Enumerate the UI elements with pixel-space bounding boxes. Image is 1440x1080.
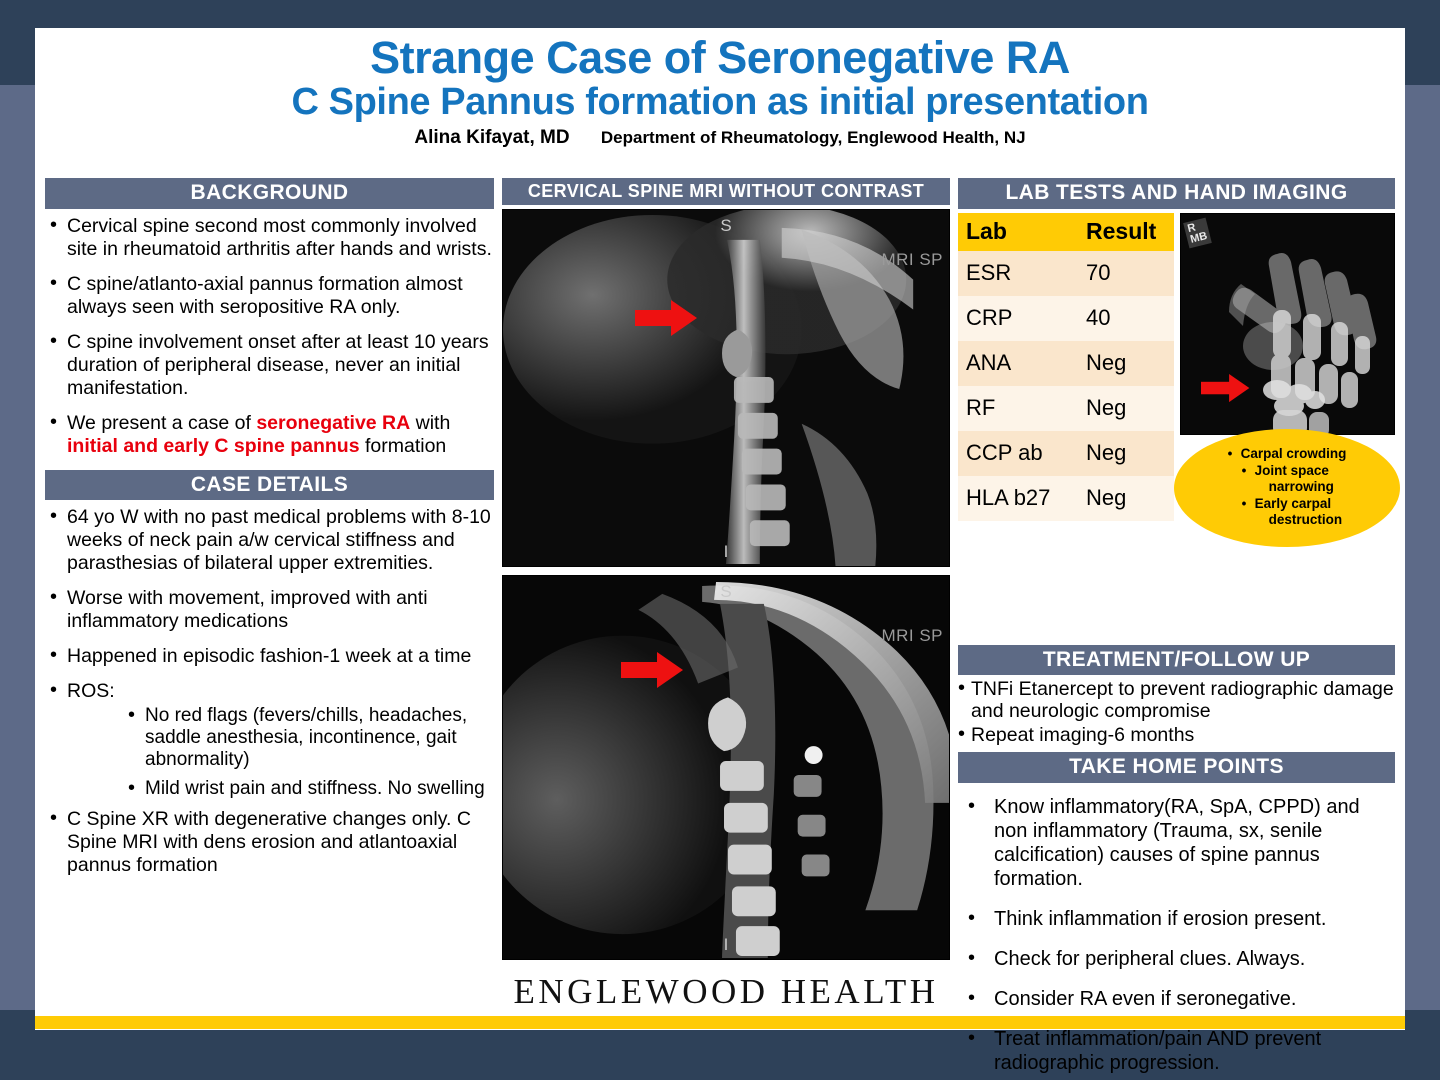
mri-image-sagittal-t2[interactable]: S I MRI SP <box>502 209 950 567</box>
englewood-health-logo: ENGLEWOOD HEALTH <box>502 972 950 1012</box>
table-row: HLA b27 Neg <box>958 476 1174 521</box>
mri-orientation-inferior: I <box>724 542 729 562</box>
frame-rail-left <box>0 85 35 1010</box>
section-header-case-details: CASE DETAILS <box>45 470 494 501</box>
arrow-head <box>657 652 683 688</box>
mri-orientation-inferior-2: I <box>724 935 729 955</box>
list-item: C Spine XR with degenerative changes onl… <box>45 808 494 877</box>
column-header-result: Result <box>1078 213 1174 251</box>
table-row: RF Neg <box>958 386 1174 431</box>
hand-imaging-wrapper: RMB Carpal crowding Joint space narrowin… <box>1180 213 1395 521</box>
poster-title-line-1: Strange Case of Seronegative RA <box>45 34 1395 83</box>
poster-authors: Alina Kifayat, MD Department of Rheumato… <box>45 127 1395 149</box>
cell-lab-result: Neg <box>1078 476 1174 521</box>
author-name: Alina Kifayat, MD <box>414 127 569 148</box>
cell-lab-name: ANA <box>958 341 1078 386</box>
poster-columns: BACKGROUND Cervical spine second most co… <box>35 178 1405 1030</box>
bullet-text-pre: We present a case of <box>67 412 256 434</box>
column-middle: CERVICAL SPINE MRI WITHOUT CONTRAST <box>498 178 954 1030</box>
arrow-head <box>671 300 697 336</box>
mri-orientation-superior-2: S <box>720 582 731 602</box>
arrow-head <box>1229 374 1249 402</box>
poster-title-block: Strange Case of Seronegative RA C Spine … <box>35 28 1405 149</box>
list-item: Mild wrist pain and stiffness. No swelli… <box>123 778 494 800</box>
bullet-text-post: formation <box>360 435 447 457</box>
hand-xray-image[interactable]: RMB <box>1180 213 1395 435</box>
list-item: Think inflammation if erosion present. <box>958 907 1395 931</box>
author-department: Department of Rheumatology, Englewood He… <box>601 128 1026 147</box>
column-right: LAB TESTS AND HAND IMAGING Lab Result ES… <box>954 178 1405 1030</box>
list-item: Consider RA even if seronegative. <box>958 987 1395 1011</box>
list-item-highlighted: We present a case of seronegative RA wit… <box>45 412 494 458</box>
cell-lab-name: HLA b27 <box>958 476 1078 521</box>
hand-xray-svg <box>1181 214 1395 435</box>
cell-lab-name: RF <box>958 386 1078 431</box>
mri-watermark-2: MRI SP <box>881 626 943 646</box>
list-item: C spine/atlanto-axial pannus formation a… <box>45 273 494 319</box>
list-item: Joint space <box>1242 463 1347 479</box>
list-item: Treat inflammation/pain AND prevent radi… <box>958 1027 1395 1075</box>
bullet-highlight-seronegative: seronegative RA <box>256 412 410 434</box>
hand-findings-callout: Carpal crowding Joint space narrowing Ea… <box>1174 429 1400 547</box>
section-header-mri: CERVICAL SPINE MRI WITHOUT CONTRAST <box>502 178 950 205</box>
poster-frame: Strange Case of Seronegative RA C Spine … <box>0 0 1440 1080</box>
list-item-continuation: destruction <box>1256 512 1347 528</box>
list-item: Cervical spine second most commonly invo… <box>45 215 494 261</box>
list-item: Repeat imaging-6 months <box>958 724 1395 746</box>
cell-lab-result: 70 <box>1078 251 1174 296</box>
list-item: No red flags (fevers/chills, headaches, … <box>123 705 494 772</box>
column-left: BACKGROUND Cervical spine second most co… <box>35 178 498 1030</box>
cell-lab-result: Neg <box>1078 386 1174 431</box>
treatment-bullet-list: TNFi Etanercept to prevent radiographic … <box>958 678 1395 746</box>
take-home-bullet-list: Know inflammatory(RA, SpA, CPPD) and non… <box>958 795 1395 1075</box>
list-item: Early carpal <box>1242 496 1347 512</box>
callout-bullet-list: Carpal crowding Joint space narrowing Ea… <box>1228 446 1347 528</box>
list-item-ros: ROS: <box>45 680 494 703</box>
list-item: Worse with movement, improved with anti … <box>45 587 494 633</box>
mri-orientation-superior: S <box>720 216 731 236</box>
table-row: ESR 70 <box>958 251 1174 296</box>
arrow-shaft <box>635 310 673 326</box>
cell-lab-result: 40 <box>1078 296 1174 341</box>
case-details-sub-bullet-list: No red flags (fevers/chills, headaches, … <box>45 705 494 800</box>
section-header-take-home: TAKE HOME POINTS <box>958 752 1395 783</box>
table-header-row: Lab Result <box>958 213 1174 251</box>
section-header-background: BACKGROUND <box>45 178 494 209</box>
bullet-highlight-pannus: initial and early C spine pannus <box>67 435 360 457</box>
cell-lab-result: Neg <box>1078 431 1174 476</box>
case-details-bullet-list: 64 yo W with no past medical problems wi… <box>45 506 494 703</box>
bottom-accent-bar <box>35 1016 1405 1029</box>
lab-and-imaging-area: Lab Result ESR 70 CRP 40 <box>958 213 1395 521</box>
list-item: Happened in episodic fashion-1 week at a… <box>45 645 494 668</box>
mri-watermark: MRI SP <box>881 250 943 270</box>
section-header-treatment: TREATMENT/FOLLOW UP <box>958 645 1395 676</box>
cell-lab-result: Neg <box>1078 341 1174 386</box>
list-item: Carpal crowding <box>1228 446 1347 462</box>
section-header-labs: LAB TESTS AND HAND IMAGING <box>958 178 1395 209</box>
list-item: TNFi Etanercept to prevent radiographic … <box>958 678 1395 723</box>
frame-rail-right <box>1405 85 1440 1010</box>
poster-title-line-2: C Spine Pannus formation as initial pres… <box>45 81 1395 124</box>
list-item: Check for peripheral clues. Always. <box>958 947 1395 971</box>
cell-lab-name: CCP ab <box>958 431 1078 476</box>
lab-results-table: Lab Result ESR 70 CRP 40 <box>958 213 1174 521</box>
mri-image-sagittal-t1[interactable]: S I MRI SP <box>502 575 950 960</box>
arrow-shaft <box>1201 381 1231 393</box>
cell-lab-name: CRP <box>958 296 1078 341</box>
arrow-shaft <box>621 662 659 678</box>
list-item-continuation: narrowing <box>1256 479 1347 495</box>
case-details-final-bullet: C Spine XR with degenerative changes onl… <box>45 808 494 877</box>
column-header-lab: Lab <box>958 213 1078 251</box>
bullet-text-mid: with <box>410 412 450 434</box>
list-item: Know inflammatory(RA, SpA, CPPD) and non… <box>958 795 1395 891</box>
list-item: 64 yo W with no past medical problems wi… <box>45 506 494 575</box>
table-row: CRP 40 <box>958 296 1174 341</box>
cell-lab-name: ESR <box>958 251 1078 296</box>
background-bullet-list: Cervical spine second most commonly invo… <box>45 215 494 458</box>
list-item: C spine involvement onset after at least… <box>45 331 494 400</box>
table-row: CCP ab Neg <box>958 431 1174 476</box>
poster-sheet: Strange Case of Seronegative RA C Spine … <box>35 28 1405 1030</box>
table-row: ANA Neg <box>958 341 1174 386</box>
